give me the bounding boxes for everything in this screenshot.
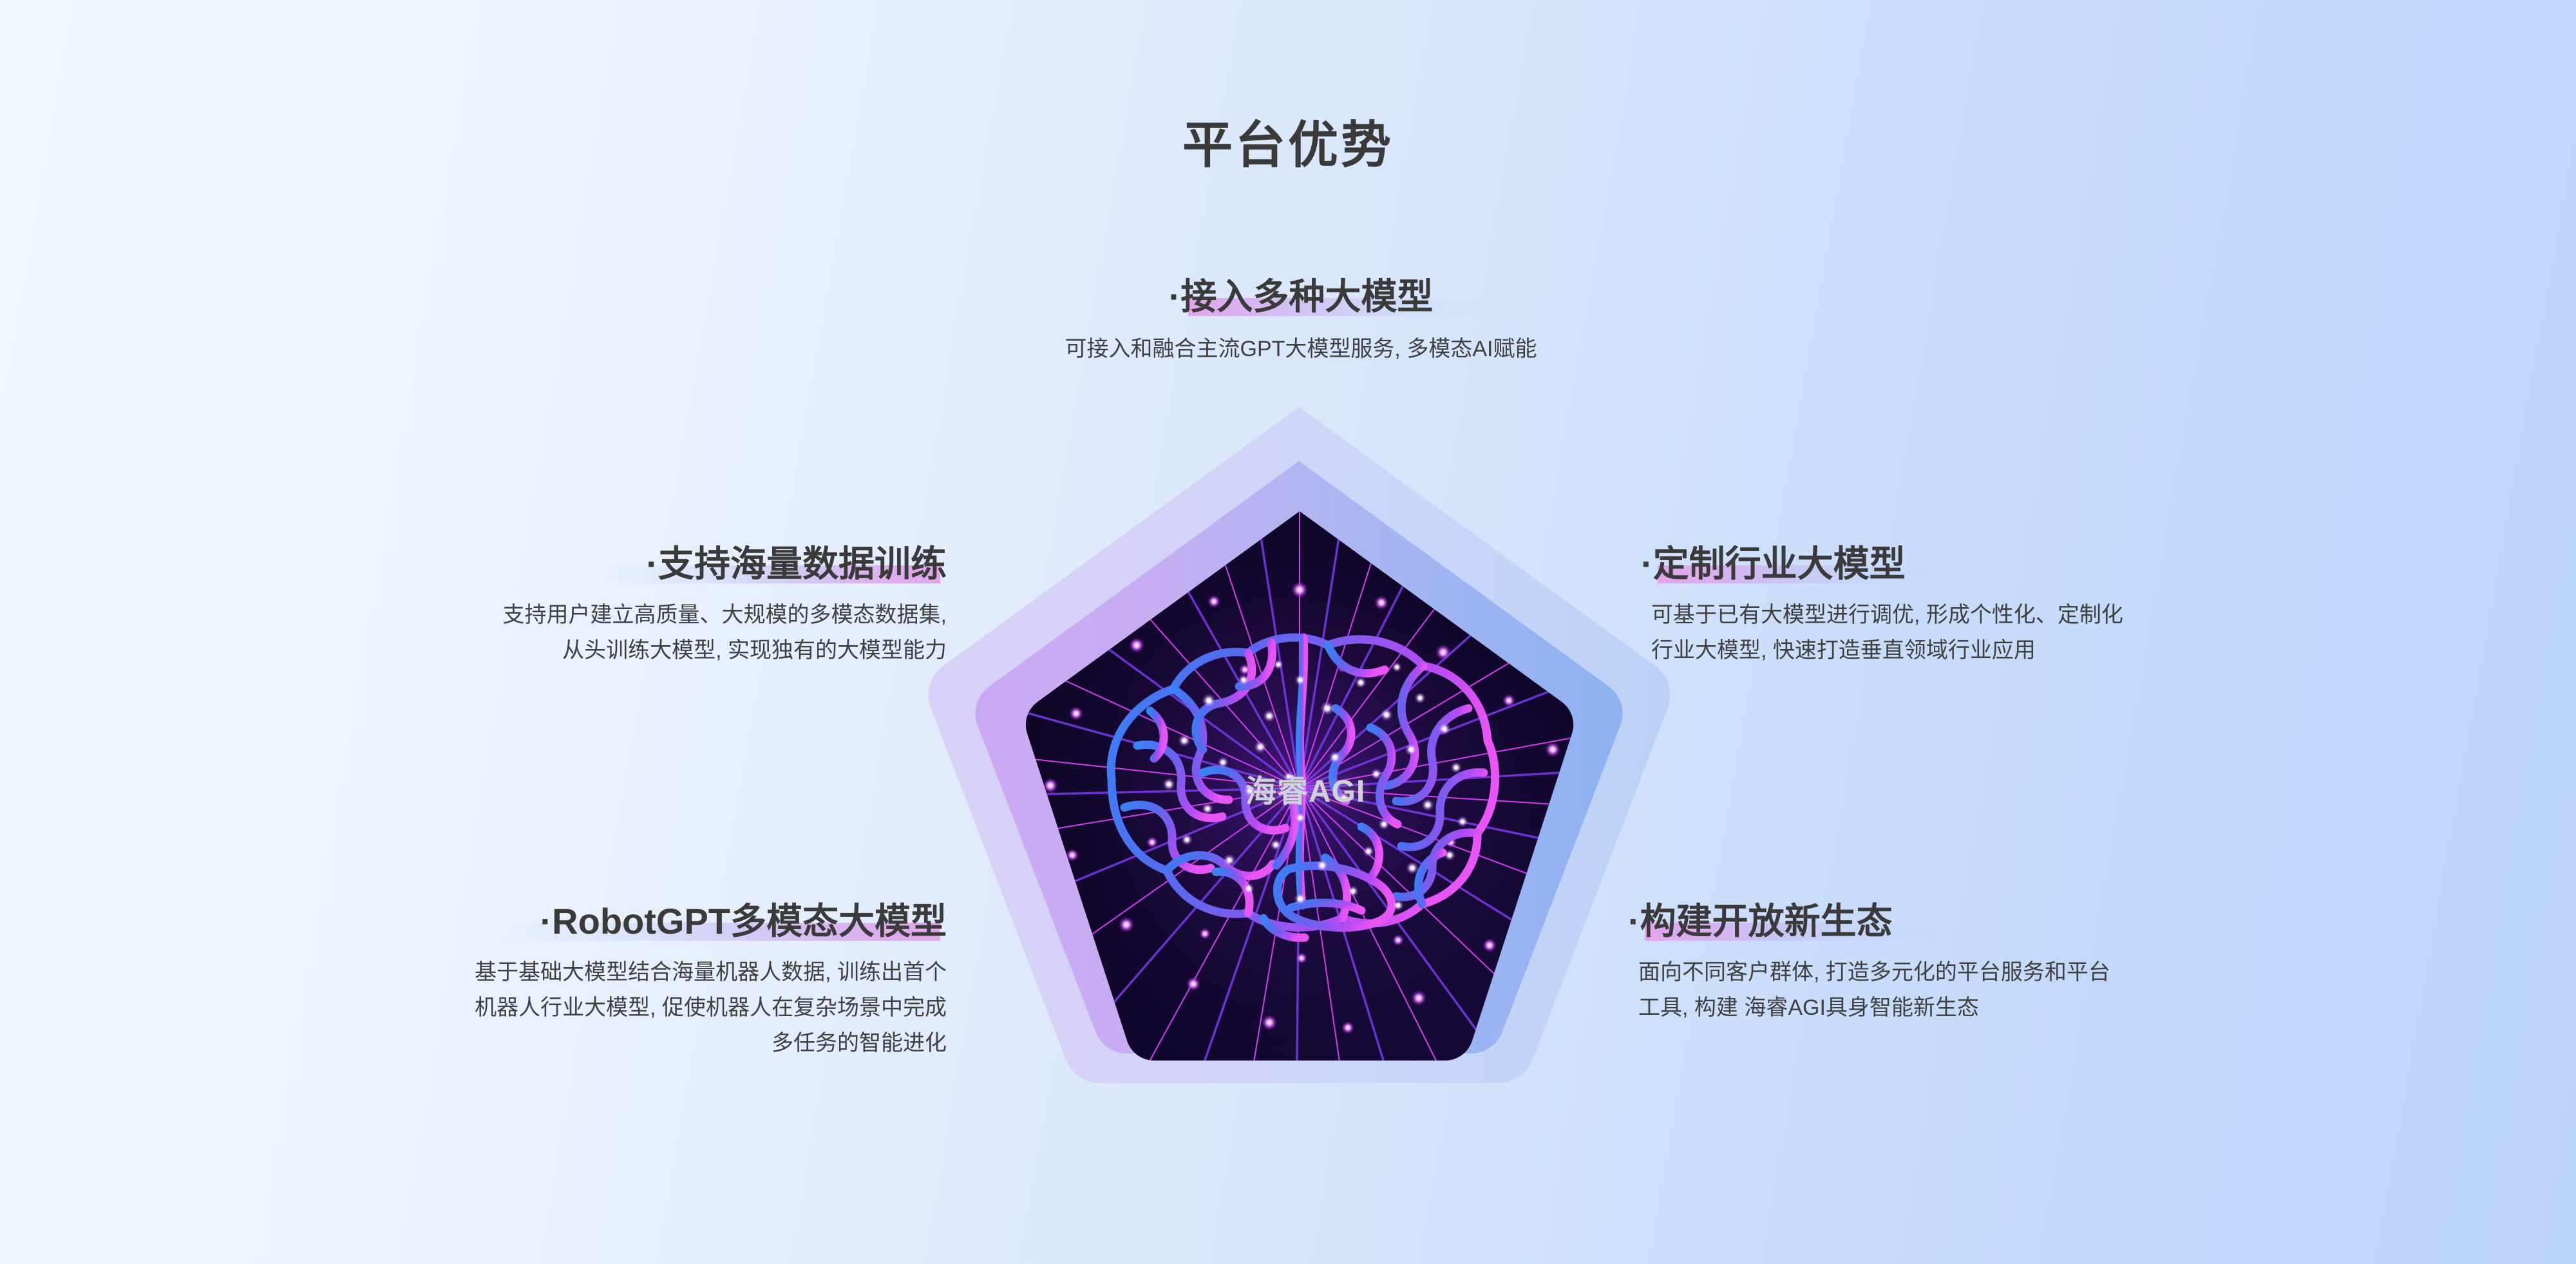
advantage-description: 可接入和融合主流GPT大模型服务, 多模态AI赋能 bbox=[760, 332, 1842, 367]
advantage-heading: ·构建开放新生态 bbox=[1628, 901, 1893, 942]
page-title: 平台优势 bbox=[0, 120, 2576, 170]
advantage-heading-text: 支持海量数据训练 bbox=[658, 543, 947, 584]
advantage-item-top: ·接入多种大模型 可接入和融合主流GPT大模型服务, 多模态AI赋能 bbox=[760, 277, 1842, 367]
description-line: 可接入和融合主流GPT大模型服务, 多模态AI赋能 bbox=[760, 332, 1842, 367]
bullet-dot: · bbox=[1641, 543, 1653, 584]
bullet-dot: · bbox=[646, 543, 658, 584]
bullet-dot: · bbox=[1628, 901, 1640, 941]
advantage-heading: ·支持海量数据训练 bbox=[646, 544, 947, 585]
advantage-description: 可基于已有大模型进行调优, 形成个性化、定制化 行业大模型, 快速打造垂直领域行… bbox=[1641, 598, 2452, 668]
description-line: 多任务的智能进化 bbox=[148, 1026, 947, 1061]
description-line: 支持用户建立高质量、大规模的多模态数据集, bbox=[148, 598, 947, 633]
advantage-item-left-1: ·支持海量数据训练 支持用户建立高质量、大规模的多模态数据集, 从头训练大模型,… bbox=[148, 544, 947, 668]
bullet-dot: · bbox=[540, 901, 553, 941]
description-line: 面向不同客户群体, 打造多元化的平台服务和平台 bbox=[1638, 955, 2439, 990]
description-line: 基于基础大模型结合海量机器人数据, 训练出首个 bbox=[148, 955, 947, 990]
advantage-heading-text: RobotGPT多模态大模型 bbox=[552, 901, 947, 941]
description-line: 行业大模型, 快速打造垂直领域行业应用 bbox=[1651, 633, 2452, 668]
advantage-description: 基于基础大模型结合海量机器人数据, 训练出首个 机器人行业大模型, 促使机器人在… bbox=[148, 955, 947, 1061]
advantage-item-right-2: ·构建开放新生态 面向不同客户群体, 打造多元化的平台服务和平台 工具, 构建 … bbox=[1628, 901, 2439, 1026]
advantage-description: 支持用户建立高质量、大规模的多模态数据集, 从头训练大模型, 实现独有的大模型能… bbox=[148, 598, 947, 668]
center-brand-label: 海睿AGI bbox=[1000, 507, 1599, 1069]
advantage-heading: ·RobotGPT多模态大模型 bbox=[540, 901, 947, 942]
advantage-heading: ·接入多种大模型 bbox=[1169, 277, 1434, 317]
advantage-heading-text: 构建开放新生态 bbox=[1640, 901, 1893, 941]
advantage-description: 面向不同客户群体, 打造多元化的平台服务和平台 工具, 构建 海睿AGI具身智能… bbox=[1628, 955, 2439, 1026]
description-line: 可基于已有大模型进行调优, 形成个性化、定制化 bbox=[1651, 598, 2452, 633]
bullet-dot: · bbox=[1169, 276, 1181, 317]
description-line: 工具, 构建 海睿AGI具身智能新生态 bbox=[1638, 990, 2439, 1026]
advantage-heading-text: 接入多种大模型 bbox=[1180, 276, 1433, 317]
pentagon-center-graphic: 海睿AGI bbox=[918, 385, 1681, 1113]
advantage-item-left-2: ·RobotGPT多模态大模型 基于基础大模型结合海量机器人数据, 训练出首个 … bbox=[148, 901, 947, 1061]
advantage-heading-text: 定制行业大模型 bbox=[1653, 543, 1906, 584]
advantage-item-right-1: ·定制行业大模型 可基于已有大模型进行调优, 形成个性化、定制化 行业大模型, … bbox=[1641, 544, 2452, 668]
pentagon-core: 海睿AGI bbox=[1000, 507, 1599, 1069]
description-line: 从头训练大模型, 实现独有的大模型能力 bbox=[148, 633, 947, 668]
description-line: 机器人行业大模型, 促使机器人在复杂场景中完成 bbox=[148, 990, 947, 1026]
advantage-heading: ·定制行业大模型 bbox=[1641, 544, 1906, 585]
